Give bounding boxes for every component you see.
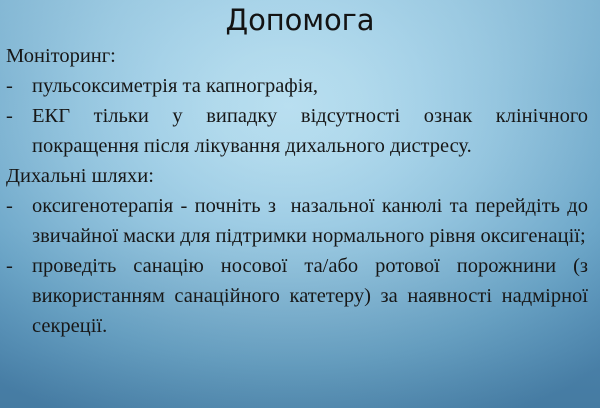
list-item-text: оксигенотерапія - почніть з назальної ка…: [32, 191, 588, 251]
section-heading-monitoring: Моніторинг:: [6, 41, 588, 71]
section-heading-airways: Дихальні шляхи:: [6, 161, 588, 191]
list-item-text: ЕКГ тільки у випадку відсутності ознак к…: [32, 101, 588, 161]
bullet-dash-icon: -: [6, 71, 32, 101]
list-item: - ЕКГ тільки у випадку відсутності ознак…: [6, 101, 588, 161]
list-item: - проведіть санацію носової та/або ротов…: [6, 251, 588, 341]
bullet-dash-icon: -: [6, 191, 32, 221]
list-item-text: проведіть санацію носової та/або ротової…: [32, 251, 588, 341]
slide-body: Моніторинг: - пульсоксиметрія та капногр…: [6, 41, 588, 341]
list-item: - оксигенотерапія - почніть з назальної …: [6, 191, 588, 251]
list-item: - пульсоксиметрія та капнографія,: [6, 71, 588, 101]
bullet-dash-icon: -: [6, 251, 32, 281]
bullet-dash-icon: -: [6, 101, 32, 131]
slide-content: Допомога Моніторинг: - пульсоксиметрія т…: [0, 0, 600, 408]
page-title: Допомога: [0, 2, 600, 38]
list-item-text: пульсоксиметрія та капнографія,: [32, 71, 588, 101]
presentation-slide: Допомога Моніторинг: - пульсоксиметрія т…: [0, 0, 600, 408]
